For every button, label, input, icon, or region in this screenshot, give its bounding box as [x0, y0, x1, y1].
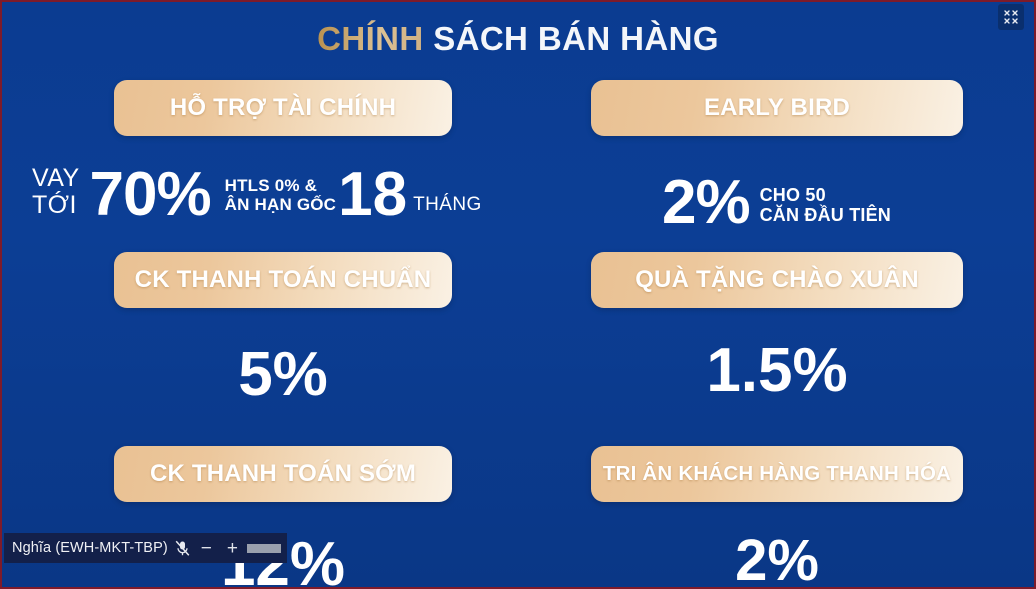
lead-line-2: TỚI: [32, 191, 77, 219]
exit-fullscreen-icon[interactable]: [998, 4, 1024, 30]
note-htls: HTLS 0% & ÂN HẠN GỐC: [225, 177, 337, 214]
pill-label: HỖ TRỢ TÀI CHÍNH: [170, 94, 396, 122]
zoom-in-button[interactable]: +: [223, 539, 242, 558]
slide-title: CHÍNH SÁCH BÁN HÀNG: [2, 21, 1034, 57]
microphone-muted-icon[interactable]: [175, 540, 190, 557]
slide-title-white: SÁCH BÁN HÀNG: [433, 20, 719, 57]
value-row-vay-toi: VAY TỚI 70% HTLS 0% & ÂN HẠN GỐC 18 THÁN…: [32, 164, 482, 226]
pill-early-bird[interactable]: EARLY BIRD: [591, 80, 963, 136]
pill-label: TRI ÂN KHÁCH HÀNG THANH HÓA: [603, 462, 951, 486]
lead-vay-toi: VAY TỚI: [32, 165, 80, 218]
value-vay-toi-percent: 70%: [90, 164, 211, 226]
label-thang: THÁNG: [413, 194, 482, 216]
value-qua-tang-chao-xuan: 1.5%: [572, 340, 982, 402]
note-line-2: CĂN ĐẦU TIÊN: [760, 205, 891, 225]
value-row-early-bird: 2% CHO 50 CĂN ĐẦU TIÊN: [662, 172, 891, 234]
pill-ck-thanh-toan-som[interactable]: CK THANH TOÁN SỚM: [114, 446, 452, 502]
pill-label: EARLY BIRD: [704, 94, 850, 122]
meeting-participant-bar: Nghĩa (EWH-MKT-TBP) − +: [4, 533, 287, 563]
value-early-bird-percent: 2%: [662, 172, 750, 234]
presentation-slide: CHÍNH SÁCH BÁN HÀNG HỖ TRỢ TÀI CHÍNH CK …: [2, 2, 1034, 587]
zoom-out-button[interactable]: −: [197, 539, 216, 558]
column-early-bird: EARLY BIRD QUÀ TẶNG CHÀO XUÂN 1.5% TRI Â…: [572, 80, 982, 589]
pill-qua-tang-chao-xuan[interactable]: QUÀ TẶNG CHÀO XUÂN: [591, 252, 963, 308]
pill-label: CK THANH TOÁN CHUẨN: [135, 266, 432, 294]
lead-line-1: VAY: [32, 164, 80, 192]
column-financial-support: HỖ TRỢ TÀI CHÍNH CK THANH TOÁN CHUẨN 5% …: [78, 80, 488, 589]
pill-tri-an-khach-hang-thanh-hoa[interactable]: TRI ÂN KHÁCH HÀNG THANH HÓA: [591, 446, 963, 502]
pill-ck-thanh-toan-chuan[interactable]: CK THANH TOÁN CHUẨN: [114, 252, 452, 308]
pill-ho-tro-tai-chinh[interactable]: HỖ TRỢ TÀI CHÍNH: [114, 80, 452, 136]
note-early-bird: CHO 50 CĂN ĐẦU TIÊN: [760, 186, 891, 225]
value-tri-an-khach-hang: 2%: [572, 532, 982, 589]
pill-label: CK THANH TOÁN SỚM: [150, 460, 416, 488]
value-months: 18: [338, 164, 407, 226]
note-line-2: ÂN HẠN GỐC: [225, 195, 337, 214]
pill-label: QUÀ TẶNG CHÀO XUÂN: [635, 266, 919, 294]
participant-name: Nghĩa (EWH-MKT-TBP): [12, 540, 168, 556]
zoom-slider[interactable]: [247, 544, 281, 553]
value-ck-thanh-toan-chuan: 5%: [78, 344, 488, 406]
slide-title-gold: CHÍNH: [317, 20, 424, 57]
note-line-1: CHO 50: [760, 185, 826, 205]
screen-capture: CHÍNH SÁCH BÁN HÀNG HỖ TRỢ TÀI CHÍNH CK …: [0, 0, 1036, 589]
note-line-1: HTLS 0% &: [225, 176, 317, 195]
